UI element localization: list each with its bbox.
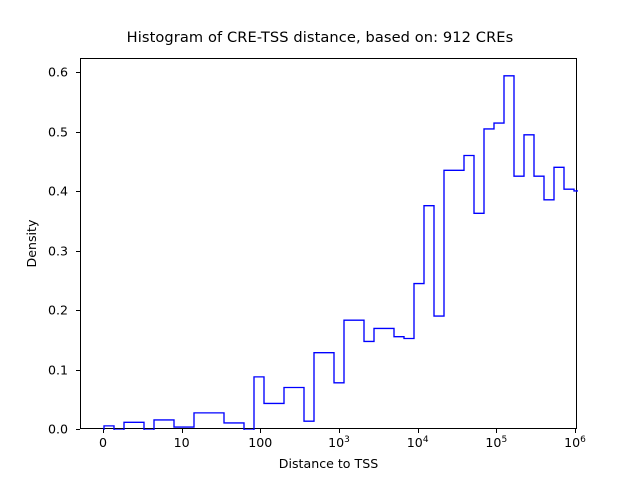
- chart-title: Histogram of CRE-TSS distance, based on:…: [0, 29, 640, 46]
- xtick-label-2: 100: [225, 435, 295, 450]
- histogram-step-plot: [81, 59, 578, 430]
- ytick-label-4: 0.4: [24, 184, 68, 199]
- x-axis-label: Distance to TSS: [80, 456, 577, 471]
- ytick-label-3: 0.3: [24, 243, 68, 258]
- xtick-label-4-text: 10: [407, 435, 423, 450]
- xtick-label-5-text: 10: [485, 435, 501, 450]
- xtick-label-3-text: 10: [328, 435, 344, 450]
- xtick-label-3: 103: [304, 435, 374, 450]
- ytick-label-5: 0.5: [24, 124, 68, 139]
- ytick-label-0: 0.0: [24, 422, 68, 437]
- histogram-outline: [104, 76, 578, 430]
- ytick-label-6: 0.6: [24, 65, 68, 80]
- xtick-label-5-exp: 5: [501, 435, 507, 445]
- xtick-label-4-exp: 4: [423, 435, 429, 445]
- xtick-label-0: 0: [68, 435, 138, 450]
- ytick-label-2: 0.2: [24, 303, 68, 318]
- xtick-label-1: 10: [147, 435, 217, 450]
- xtick-label-4: 104: [383, 435, 453, 450]
- xtick-label-6: 106: [540, 435, 610, 450]
- figure-canvas: Histogram of CRE-TSS distance, based on:…: [0, 0, 640, 480]
- xtick-label-3-exp: 3: [344, 435, 350, 445]
- ytick-mark-0: [76, 429, 80, 430]
- xtick-label-6-exp: 6: [580, 435, 586, 445]
- xtick-label-5: 105: [461, 435, 531, 450]
- plot-area: [80, 58, 577, 429]
- xtick-label-6-text: 10: [564, 435, 580, 450]
- ytick-label-1: 0.1: [24, 362, 68, 377]
